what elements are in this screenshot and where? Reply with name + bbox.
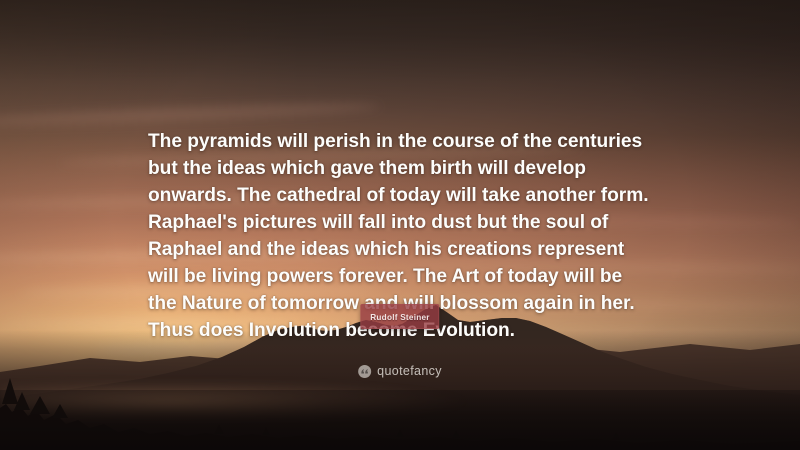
quote-mark-circle-icon — [358, 365, 371, 378]
watermark-brand: quotefancy — [377, 364, 442, 378]
quote-wallpaper-canvas: The pyramids will perish in the course o… — [0, 0, 800, 450]
author-badge[interactable]: Rudolf Steiner — [360, 304, 439, 329]
bottom-vignette — [0, 390, 800, 450]
author-name: Rudolf Steiner — [370, 313, 429, 322]
watermark[interactable]: quotefancy — [358, 364, 442, 378]
